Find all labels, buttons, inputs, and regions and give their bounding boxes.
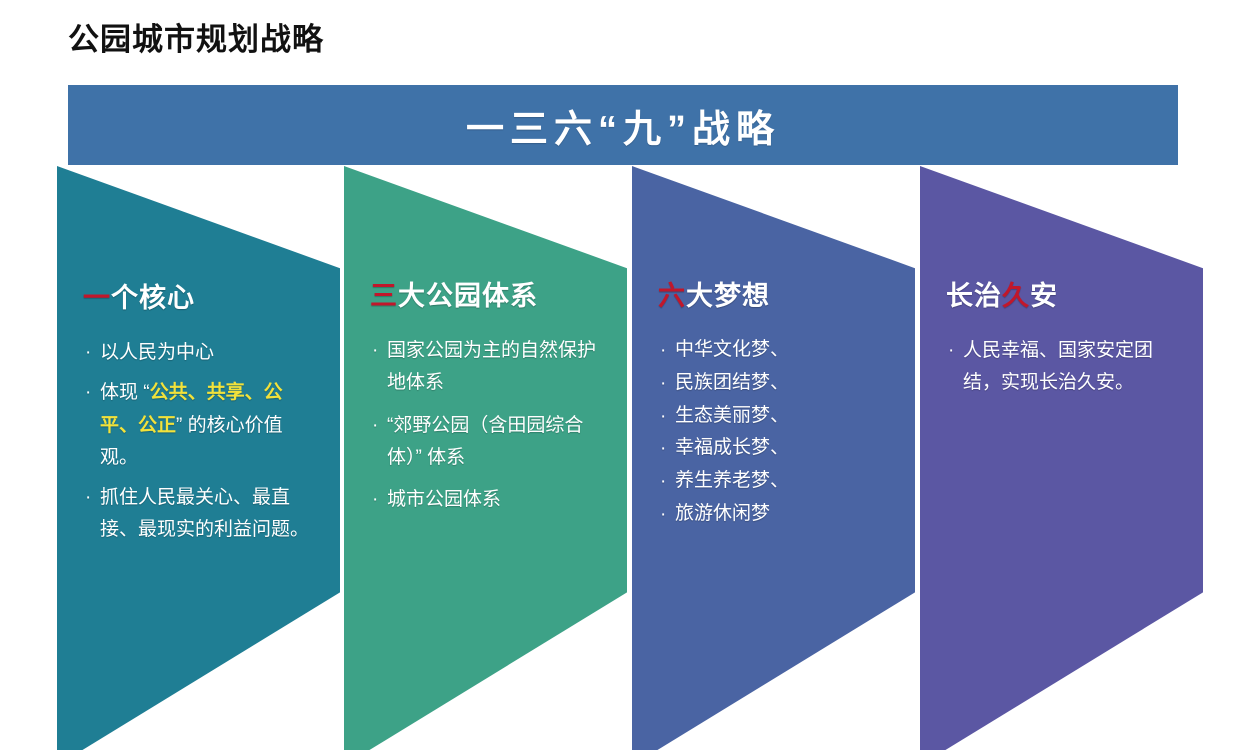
column-heading: 长治久安 [946, 274, 1182, 313]
bullet-item: ·旅游休闲梦 [658, 499, 894, 530]
strategy-column-one-core[interactable]: 一个核心 ·以人民为中心·体现 “公共、共享、公平、公正” 的核心价值观。·抓住… [57, 166, 340, 750]
bullet-item: ·生态美丽梦、 [658, 401, 894, 432]
column-content: 三大公园体系 ·国家公园为主的自然保护地体系· “郊野公园（含田园综合体）” 体… [370, 274, 606, 526]
strategy-column-six-dreams[interactable]: 六大梦想 ·中华文化梦、·民族团结梦、·生态美丽梦、·幸福成长梦、·养生养老梦、… [632, 166, 915, 750]
strategy-column-lasting-stability[interactable]: 长治久安 ·人民幸福、国家安定团结，实现长治久安。 [920, 166, 1203, 750]
column-content: 六大梦想 ·中华文化梦、·民族团结梦、·生态美丽梦、·幸福成长梦、·养生养老梦、… [658, 274, 894, 532]
bullet-text: 养生养老梦、 [675, 470, 789, 491]
bullet-text: 中华文化梦、 [675, 339, 789, 360]
bullet-text: 体现 “ [100, 382, 150, 403]
bullet-text: 幸福成长梦、 [675, 437, 789, 458]
bullet-dot-icon: · [372, 335, 378, 367]
column-bullet-list: ·中华文化梦、·民族团结梦、·生态美丽梦、·幸福成长梦、·养生养老梦、·旅游休闲… [658, 335, 894, 530]
bullet-dot-icon: · [660, 466, 666, 498]
bullet-dot-icon: · [372, 410, 378, 442]
bullet-dot-icon: · [660, 433, 666, 465]
bullet-text: 抓住人民最关心、最直接、最现实的利益问题。 [100, 487, 309, 540]
bullet-text: 以人民为中心 [100, 342, 214, 363]
bullet-item: ·以人民为中心 [83, 337, 319, 369]
bullet-text: 生态美丽梦、 [675, 405, 789, 426]
bullet-dot-icon: · [85, 337, 91, 369]
bullet-text: 国家公园为主的自然保护地体系 [387, 340, 596, 393]
strategy-column-three-park-systems[interactable]: 三大公园体系 ·国家公园为主的自然保护地体系· “郊野公园（含田园综合体）” 体… [344, 166, 627, 750]
heading-text: 安 [1030, 281, 1058, 311]
bullet-item: ·人民幸福、国家安定团结，实现长治久安。 [946, 335, 1182, 400]
bullet-item: ·城市公园体系 [370, 484, 606, 516]
bullet-dot-icon: · [660, 368, 666, 400]
column-bullet-list: ·人民幸福、国家安定团结，实现长治久安。 [946, 335, 1182, 400]
bullet-item: ·养生养老梦、 [658, 466, 894, 497]
bullet-dot-icon: · [372, 484, 378, 516]
bullet-text: “郊野公园（含田园综合体）” 体系 [387, 415, 583, 468]
bullet-dot-icon: · [660, 335, 666, 367]
column-bullet-list: ·以人民为中心·体现 “公共、共享、公平、公正” 的核心价值观。·抓住人民最关心… [83, 337, 319, 547]
column-heading: 一个核心 [83, 276, 319, 315]
heading-text: 长治 [946, 281, 1002, 311]
bullet-item: ·抓住人民最关心、最直接、最现实的利益问题。 [83, 482, 319, 547]
bullet-item: · “郊野公园（含田园综合体）” 体系 [370, 410, 606, 475]
bullet-dot-icon: · [85, 377, 91, 409]
bullet-dot-icon: · [660, 401, 666, 433]
heading-accent-text: 久 [1002, 281, 1030, 311]
heading-accent-text: 三 [370, 281, 398, 311]
bullet-text: 旅游休闲梦 [675, 503, 770, 524]
bullet-dot-icon: · [660, 499, 666, 531]
bullet-item: ·幸福成长梦、 [658, 433, 894, 464]
heading-accent-text: 一 [83, 283, 111, 313]
column-heading: 三大公园体系 [370, 274, 606, 313]
bullet-item: ·国家公园为主的自然保护地体系 [370, 335, 606, 400]
heading-text: 大梦想 [686, 281, 770, 311]
column-heading: 六大梦想 [658, 274, 894, 313]
heading-accent-text: 六 [658, 281, 686, 311]
strategy-columns: 一个核心 ·以人民为中心·体现 “公共、共享、公平、公正” 的核心价值观。·抓住… [0, 0, 1238, 750]
bullet-item: ·体现 “公共、共享、公平、公正” 的核心价值观。 [83, 377, 319, 474]
bullet-dot-icon: · [948, 335, 954, 367]
column-content: 一个核心 ·以人民为中心·体现 “公共、共享、公平、公正” 的核心价值观。·抓住… [83, 276, 319, 555]
bullet-text: 城市公园体系 [387, 489, 501, 510]
bullet-text: 人民幸福、国家安定团结，实现长治久安。 [963, 340, 1153, 393]
bullet-text: 民族团结梦、 [675, 372, 789, 393]
heading-text: 大公园体系 [398, 281, 538, 311]
heading-text: 个核心 [111, 283, 195, 313]
column-content: 长治久安 ·人民幸福、国家安定团结，实现长治久安。 [946, 274, 1182, 407]
bullet-dot-icon: · [85, 482, 91, 514]
bullet-item: ·民族团结梦、 [658, 368, 894, 399]
bullet-item: ·中华文化梦、 [658, 335, 894, 366]
column-bullet-list: ·国家公园为主的自然保护地体系· “郊野公园（含田园综合体）” 体系·城市公园体… [370, 335, 606, 516]
